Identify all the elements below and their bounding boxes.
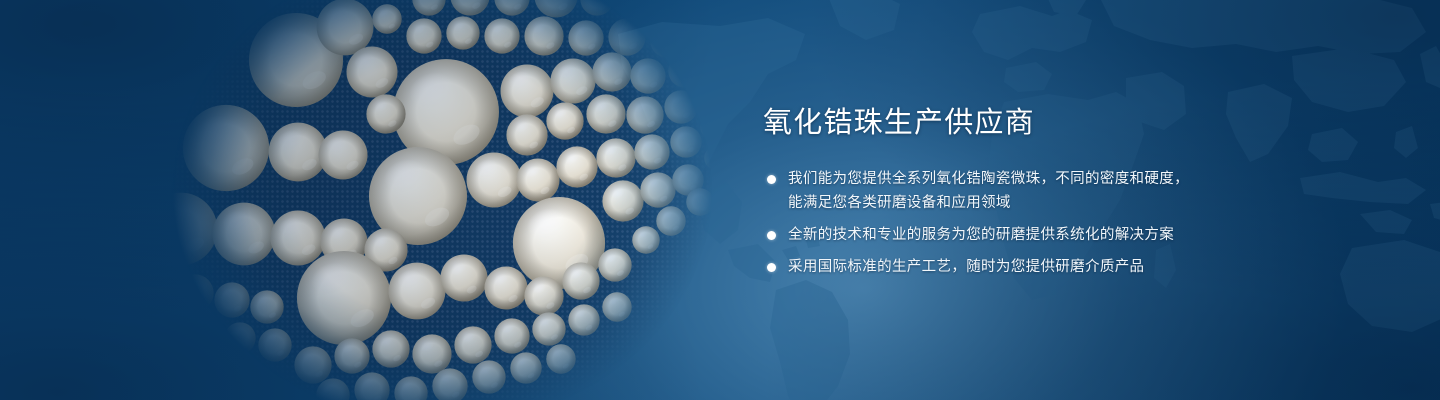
bullet-dot-icon [767, 263, 776, 272]
feature-item-1: 我们能为您提供全系列氧化锆陶瓷微珠，不同的密度和硬度， 能满足您各类研磨设备和应… [763, 168, 1263, 215]
banner-headline: 氧化锆珠生产供应商 [763, 104, 1263, 142]
bullet-dot-icon [767, 175, 776, 184]
feature-item-2-line-1: 全新的技术和专业的服务为您的研磨提供系统化的解决方案 [788, 224, 1263, 247]
feature-item-1-line-1: 我们能为您提供全系列氧化锆陶瓷微珠，不同的密度和硬度， [788, 168, 1263, 191]
banner-copy: 氧化锆珠生产供应商 我们能为您提供全系列氧化锆陶瓷微珠，不同的密度和硬度， 能满… [763, 104, 1263, 279]
feature-item-2: 全新的技术和专业的服务为您的研磨提供系统化的解决方案 [763, 224, 1263, 247]
banner-feature-list: 我们能为您提供全系列氧化锆陶瓷微珠，不同的密度和硬度， 能满足您各类研磨设备和应… [763, 168, 1263, 279]
bullet-dot-icon [767, 231, 776, 240]
feature-item-3: 采用国际标准的生产工艺，随时为您提供研磨介质产品 [763, 256, 1263, 279]
feature-item-1-line-2: 能满足您各类研磨设备和应用领域 [788, 192, 1263, 215]
feature-item-3-line-1: 采用国际标准的生产工艺，随时为您提供研磨介质产品 [788, 256, 1263, 279]
hero-banner: 氧化锆珠生产供应商 我们能为您提供全系列氧化锆陶瓷微珠，不同的密度和硬度， 能满… [0, 0, 1440, 400]
